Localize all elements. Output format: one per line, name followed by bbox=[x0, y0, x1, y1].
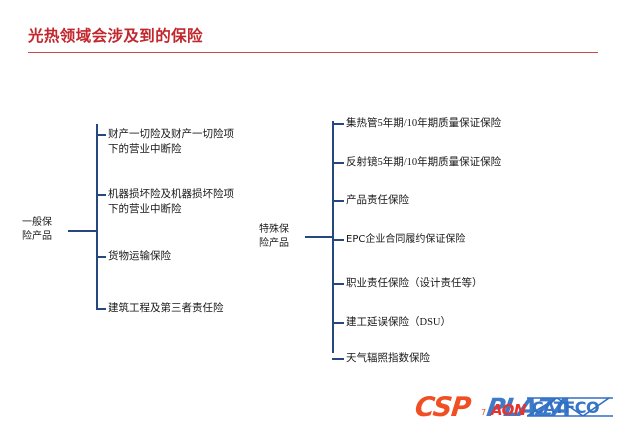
footer-logo-watermark: CSP 7 PLAZA AON CATFCO bbox=[415, 390, 615, 426]
aon-logo-text: AON bbox=[491, 401, 526, 419]
special-branch-connector-3 bbox=[332, 200, 344, 202]
special-branch-label-6: 建工延误保险（DSU） bbox=[346, 315, 561, 330]
special-branch-label-7: 天气辐照指数保险 bbox=[346, 351, 561, 366]
special-branch-label-4: EPC企业合同履约保证保险 bbox=[346, 232, 556, 247]
special-branch-connector-5 bbox=[332, 283, 344, 285]
catfco-logo-text: CATFCO bbox=[532, 398, 599, 417]
csp-logo-text: CSP bbox=[413, 392, 471, 423]
special-insurance-tree: 特殊保 险产品 集热管5年期/10年期质量保证保险 反射镜5年期/10年期质量保… bbox=[0, 0, 620, 429]
special-branch-connector-4 bbox=[332, 239, 344, 241]
special-branch-label-5: 职业责任保险（设计责任等） bbox=[346, 276, 561, 291]
special-branch-connector-6 bbox=[332, 322, 344, 324]
special-branch-connector-1 bbox=[332, 123, 344, 125]
special-root-connector bbox=[305, 236, 333, 238]
special-branch-label-3: 产品责任保险 bbox=[346, 193, 556, 208]
special-branch-connector-2 bbox=[332, 162, 344, 164]
special-branch-label-2: 反射镜5年期/10年期质量保证保险 bbox=[346, 155, 556, 170]
slide-canvas: 光热领域会涉及到的保险 一般保 险产品 财产一切险及财产一切险项 下的营业中断险… bbox=[0, 0, 620, 429]
special-branch-label-1: 集热管5年期/10年期质量保证保险 bbox=[346, 116, 556, 131]
special-trunk-line bbox=[332, 121, 334, 353]
special-branch-connector-7 bbox=[332, 358, 344, 360]
special-insurance-root-label: 特殊保 险产品 bbox=[259, 223, 307, 251]
